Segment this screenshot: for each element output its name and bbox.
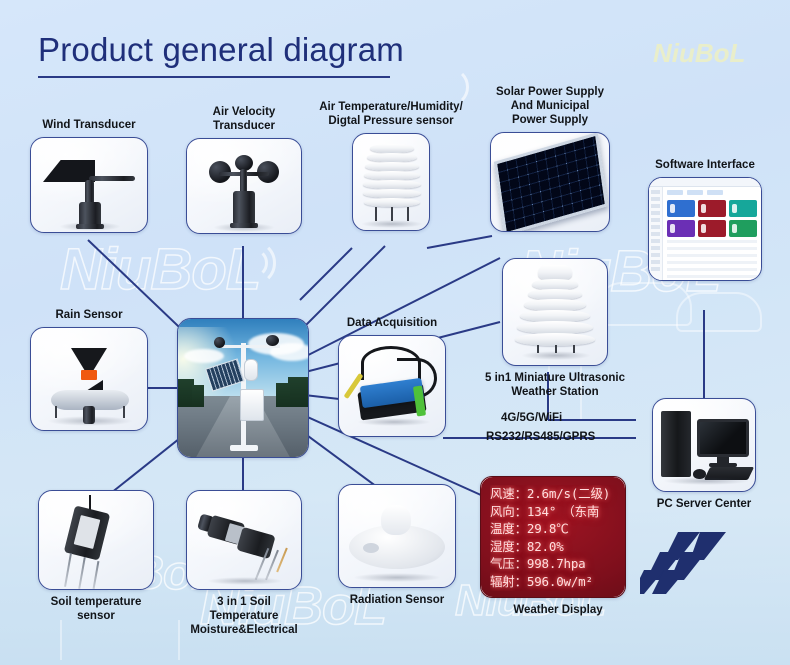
weather-station-hub-card[interactable] (177, 318, 309, 458)
ultrasonic-station-label: 5 in1 Miniature Ultrasonic Weather Stati… (480, 371, 630, 399)
dashboard-tile[interactable] (729, 200, 757, 217)
node-air-velocity-transducer[interactable]: Air Velocity Transducer (186, 105, 302, 234)
air-velocity-card[interactable] (186, 138, 302, 234)
air-temp-label: Air Temperature/Humidity/ Digtal Pressur… (316, 100, 466, 128)
node-weather-station-hub[interactable] (177, 318, 309, 458)
network-wired-label: RS232/RS485/GPRS (486, 431, 595, 443)
wind-transducer-label: Wind Transducer (30, 118, 148, 132)
node-data-acquisition[interactable]: Data Acquisition (338, 316, 446, 437)
pc-server-card[interactable] (652, 398, 756, 492)
network-wireless-label: 4G/5G/WiFi (501, 412, 562, 424)
rain-gauge-icon (31, 328, 147, 430)
data-acquisition-card[interactable] (338, 335, 446, 437)
node-soil-temperature-sensor[interactable]: Soil temperature sensor (34, 490, 158, 623)
desktop-computer-icon (653, 399, 755, 491)
product-diagram-canvas: NiuBoL NiuBoL NiuBoL NiuBoL NiuBoL NiuBo… (0, 0, 790, 665)
node-radiation-sensor[interactable]: Radiation Sensor (338, 484, 456, 607)
dashboard-tile[interactable] (667, 200, 695, 217)
node-rain-sensor[interactable]: Rain Sensor (30, 308, 148, 431)
led-line: 风向：134° （东南 (490, 503, 619, 521)
node-software-interface[interactable]: Software Interface (648, 158, 762, 281)
data-logger-icon (339, 336, 445, 436)
wind-vane-icon (31, 138, 147, 232)
led-line: 温度：29.8℃ (490, 520, 619, 538)
radiation-shield-icon (353, 134, 429, 230)
node-air-temperature-sensor[interactable]: Air Temperature/Humidity/ Digtal Pressur… (316, 100, 466, 231)
ultrasonic-station-icon (503, 259, 607, 365)
soil-3in1-label: 3 in 1 Soil Temperature Moisture&Electri… (182, 595, 306, 637)
dashboard-tile[interactable] (698, 220, 726, 237)
soil-temperature-card[interactable] (38, 490, 154, 590)
led-line: 气压：998.7hpa (490, 555, 619, 573)
led-display-readings: 风速：2.6m/s(二级) 风向：134° （东南 温度：29.8℃ 湿度：82… (490, 485, 619, 591)
radiation-sensor-label: Radiation Sensor (338, 593, 456, 607)
soil-temperature-label: Soil temperature sensor (34, 595, 158, 623)
dashboard-tile[interactable] (729, 220, 757, 237)
node-ultrasonic-weather-station[interactable]: 5 in1 Miniature Ultrasonic Weather Stati… (480, 258, 630, 399)
node-pc-server-center[interactable]: PC Server Center (640, 398, 768, 511)
dashboard-tile[interactable] (698, 200, 726, 217)
dashboard-tile[interactable] (667, 220, 695, 237)
node-soil-3in1-sensor[interactable]: 3 in 1 Soil Temperature Moisture&Electri… (182, 490, 306, 637)
connector-solar-bridge (427, 236, 492, 248)
software-interface-label: Software Interface (648, 158, 762, 172)
soil-3in1-icon (187, 491, 301, 589)
rain-sensor-label: Rain Sensor (30, 308, 148, 322)
solar-panel-icon (491, 133, 609, 231)
node-solar-power-supply[interactable]: Solar Power Supply And Municipal Power S… (490, 85, 610, 232)
connector-airtemp-corner (300, 248, 352, 300)
weather-station-icon (178, 319, 308, 457)
flow-arrows-icon (640, 530, 750, 600)
anemometer-icon (187, 139, 301, 233)
air-temp-card[interactable] (352, 133, 430, 231)
soil-3in1-card[interactable] (186, 490, 302, 590)
ultrasonic-station-card[interactable] (502, 258, 608, 366)
dashboard-tiles (667, 200, 757, 237)
dashboard-icon (649, 178, 761, 280)
node-wind-transducer[interactable]: Wind Transducer (30, 118, 148, 233)
pyranometer-icon (339, 485, 455, 587)
rain-sensor-card[interactable] (30, 327, 148, 431)
weather-display-label: Weather Display (480, 603, 636, 617)
pc-server-label: PC Server Center (640, 497, 768, 511)
radiation-sensor-card[interactable] (338, 484, 456, 588)
wind-transducer-card[interactable] (30, 137, 148, 233)
led-line: 辐射：596.0w/m² (490, 573, 619, 591)
air-velocity-label: Air Velocity Transducer (186, 105, 302, 133)
solar-power-card[interactable] (490, 132, 610, 232)
solar-power-label: Solar Power Supply And Municipal Power S… (490, 85, 610, 127)
led-line: 湿度：82.0% (490, 538, 619, 556)
led-line: 风速：2.6m/s(二级) (490, 485, 619, 503)
weather-display-card[interactable]: 风速：2.6m/s(二级) 风向：134° （东南 温度：29.8℃ 湿度：82… (480, 476, 626, 598)
node-weather-display[interactable]: 风速：2.6m/s(二级) 风向：134° （东南 温度：29.8℃ 湿度：82… (480, 476, 636, 617)
soil-probe-icon (39, 491, 153, 589)
software-interface-card[interactable] (648, 177, 762, 281)
data-acquisition-label: Data Acquisition (338, 316, 446, 330)
